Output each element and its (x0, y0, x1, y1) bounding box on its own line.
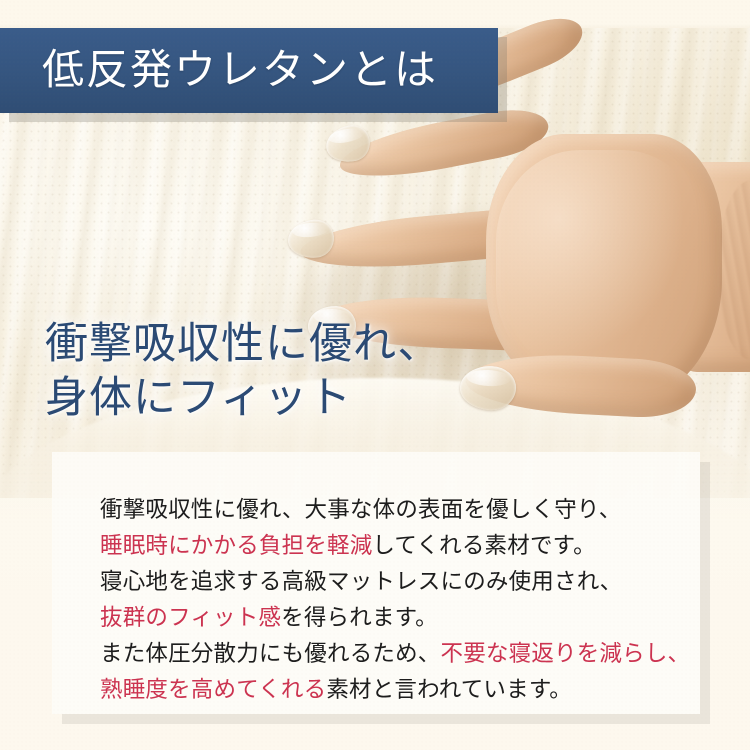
description-line-3-plain-a: 寝心地を追求する高級マットレスにのみ使用され、 (100, 569, 622, 594)
title-banner: 低反発ウレタンとは (0, 28, 498, 113)
description-line-6: 熟睡度を高めてくれる素材と言われています。 (100, 672, 700, 708)
description-card: 衝撃吸収性に優れ、大事な体の表面を優しく守り、 睡眠時にかかる負担を軽減してくれ… (52, 452, 700, 714)
description-line-4: 抜群のフィット感を得られます。 (100, 600, 700, 636)
headline-line-2: 身体にフィット (45, 372, 441, 426)
description-text: 衝撃吸収性に優れ、大事な体の表面を優しく守り、 睡眠時にかかる負担を軽減してくれ… (52, 452, 700, 708)
description-line-6-highlight: 熟睡度を高めてくれる (100, 677, 326, 702)
description-line-1: 衝撃吸収性に優れ、大事な体の表面を優しく守り、 (100, 492, 700, 528)
description-line-5: また体圧分散力にも優れるため、不要な寝返りを減らし、 (100, 636, 700, 672)
description-line-3: 寝心地を追求する高級マットレスにのみ使用され、 (100, 564, 700, 600)
description-line-4-highlight: 抜群のフィット感 (100, 605, 281, 630)
description-line-2-plain-b: してくれる素材です。 (372, 533, 595, 558)
description-line-5-highlight: 不要な寝返りを減らし、 (441, 641, 691, 666)
page-title: 低反発ウレタンとは (42, 50, 438, 92)
description-line-2: 睡眠時にかかる負担を軽減してくれる素材です。 (100, 528, 700, 564)
headline-line-1: 衝撃吸収性に優れ、 (45, 318, 441, 372)
description-line-2-highlight: 睡眠時にかかる負担を軽減 (100, 533, 372, 558)
headline: 衝撃吸収性に優れ、 身体にフィット (45, 318, 441, 426)
description-line-4-plain-b: を得られます。 (281, 605, 438, 630)
description-line-1-plain-a: 衝撃吸収性に優れ、大事な体の表面を優しく守り、 (100, 497, 621, 522)
promo-banner-canvas: 低反発ウレタンとは 衝撃吸収性に優れ、 身体にフィット 衝撃吸収性に優れ、大事な… (0, 0, 750, 750)
description-line-5-plain-a: また体圧分散力にも優れるため、 (100, 641, 441, 666)
description-line-6-plain-b: 素材と言われています。 (326, 677, 572, 702)
